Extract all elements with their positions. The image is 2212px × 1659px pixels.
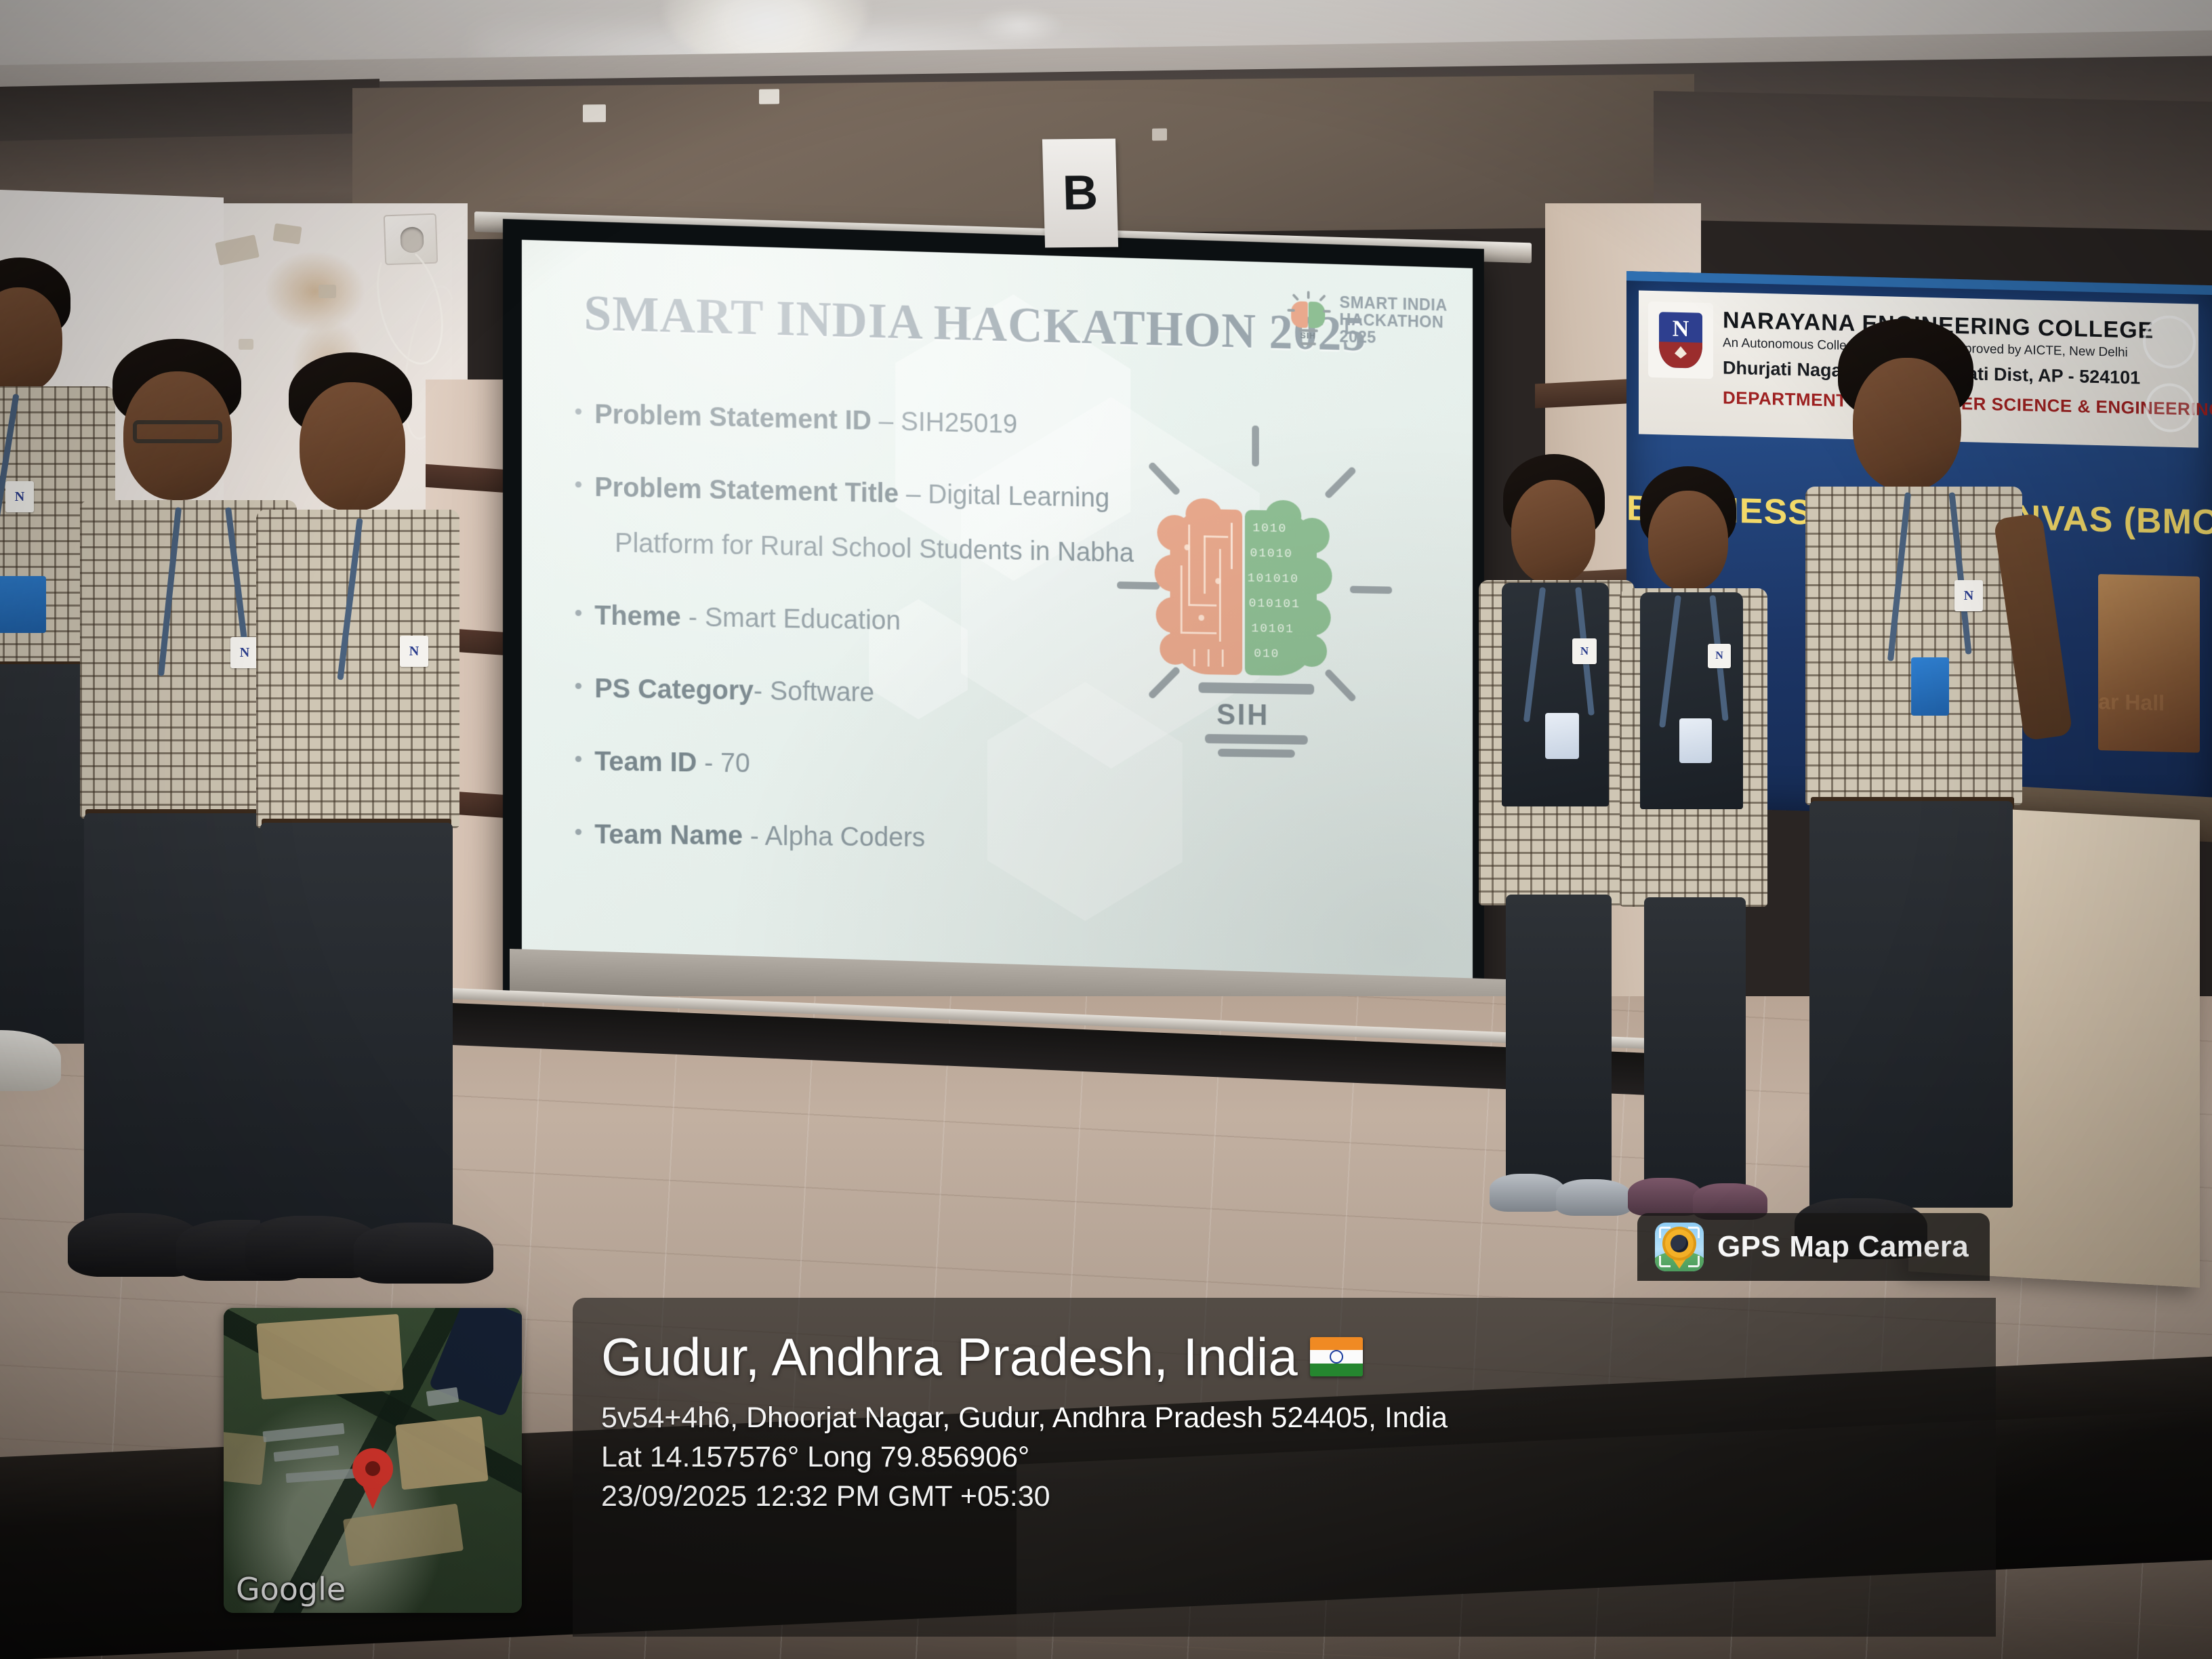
room-letter-sign: B <box>1042 139 1118 248</box>
shield-icon: N <box>1659 312 1702 369</box>
shirt <box>1805 487 2022 805</box>
seal-icon <box>2143 315 2196 369</box>
trousers <box>1506 895 1612 1186</box>
bulb-base <box>1218 749 1295 758</box>
wall-valance-right <box>1654 91 2212 230</box>
gps-city-text: Gudur, Andhra Pradesh, India <box>601 1330 1298 1383</box>
sih-logo-text: SMART INDIA HACKATHON 2025 <box>1340 293 1448 348</box>
college-logo-letter: N <box>1659 316 1702 343</box>
trousers <box>260 823 453 1229</box>
binary-row: 1010 <box>1252 520 1287 535</box>
uniform-badge: N <box>5 481 34 512</box>
binary-row: 101010 <box>1248 571 1299 586</box>
binary-row: 10101 <box>1251 621 1294 636</box>
google-watermark: Google <box>236 1571 346 1607</box>
ceiling-light-secondary <box>976 7 1064 44</box>
map-field <box>395 1416 488 1490</box>
ray <box>1117 581 1160 590</box>
wall-chip <box>319 285 336 298</box>
binary-row: 010 <box>1254 646 1279 661</box>
gps-map-thumbnail[interactable]: Google <box>224 1308 522 1613</box>
sih-brain-icon: SIH <box>1284 290 1332 347</box>
viewfinder-bracket-icon <box>1688 1227 1700 1238</box>
gps-map-camera-icon <box>1655 1223 1704 1271</box>
bulb-base <box>1205 734 1308 745</box>
trousers <box>1809 801 2013 1208</box>
shoe <box>1556 1179 1632 1216</box>
glasses-icon <box>133 420 222 443</box>
bullet-text: Platform for Rural School Students in Na… <box>615 526 1134 570</box>
gps-info-panel: Gudur, Andhra Pradesh, India 5v54+4h6, D… <box>573 1298 1996 1637</box>
uniform-badge: N <box>1572 638 1597 664</box>
id-card <box>1545 713 1579 759</box>
sih-logo-mark: SIH <box>1284 330 1332 342</box>
sih-logo: SIH SMART INDIA HACKATHON 2025 <box>1284 290 1447 350</box>
photo-canvas: N NARAYANA ENGINEERING COLLEGE An Autono… <box>0 0 2212 1659</box>
binary-row: 010101 <box>1249 596 1300 611</box>
wall-valance-left <box>0 79 380 141</box>
wall-chip <box>239 339 253 350</box>
location-pin-icon <box>352 1448 393 1489</box>
id-card <box>0 576 46 633</box>
bulb-base <box>1198 682 1314 695</box>
viewfinder-bracket-icon <box>1688 1256 1700 1267</box>
gps-coordinates: Lat 14.157576° Long 79.856906° <box>601 1437 1969 1477</box>
gps-timestamp: 23/09/2025 12:32 PM GMT +05:30 <box>601 1477 1969 1516</box>
gps-app-badge: GPS Map Camera <box>1637 1213 1990 1281</box>
bullet-text: Problem Statement Title – Digital Learni… <box>594 470 1109 515</box>
bullet-item: • Team Name - Alpha Coders <box>575 817 1240 857</box>
flame-icon <box>1659 342 1702 369</box>
trousers <box>84 813 287 1227</box>
banner-top-border <box>1626 271 2212 295</box>
shoe <box>1628 1178 1702 1216</box>
brain-right-hemisphere: 1010 01010 101010 010101 10101 010 <box>1245 510 1317 676</box>
bullet-dot: • <box>575 744 583 770</box>
bullet-dot: • <box>575 598 583 624</box>
bullet-text: PS Category- Software <box>594 672 874 710</box>
head <box>1853 358 1961 491</box>
presentation-slide: SMART INDIA HACKATHON 2025 SIH SMART IN <box>522 240 1473 1006</box>
bullet-text: Theme - Smart Education <box>594 598 901 637</box>
trousers <box>1644 897 1746 1189</box>
bullet-dot: • <box>575 817 583 843</box>
ashoka-chakra-icon <box>1330 1350 1343 1364</box>
wall-stain <box>264 251 366 332</box>
gps-app-name: GPS Map Camera <box>1717 1230 1969 1264</box>
shoe <box>1490 1174 1565 1212</box>
vest <box>1640 592 1743 809</box>
ray <box>1147 462 1181 496</box>
bullet-dot: • <box>575 470 583 495</box>
room-letter: B <box>1062 165 1099 221</box>
ray <box>1252 426 1258 467</box>
id-card <box>1679 718 1712 763</box>
projector-screen: SMART INDIA HACKATHON 2025 SIH SMART IN <box>503 219 1484 1023</box>
ray <box>1350 586 1392 594</box>
map-field <box>256 1314 403 1399</box>
college-logo: N <box>1648 302 1713 379</box>
india-flag-icon <box>1310 1337 1363 1376</box>
brain-left-hemisphere <box>1170 508 1243 675</box>
ray <box>1324 466 1357 499</box>
ray <box>1147 665 1181 699</box>
id-card <box>1911 657 1949 716</box>
head <box>1648 491 1728 591</box>
bullet-dot: • <box>575 397 583 423</box>
slide-title: SMART INDIA HACKATHON 2025 <box>583 285 1366 363</box>
head <box>300 382 405 511</box>
binary-row: 01010 <box>1250 546 1293 561</box>
uniform-badge: N <box>400 636 428 667</box>
uniform-badge: N <box>1708 644 1731 668</box>
viewfinder-bracket-icon <box>1659 1256 1671 1267</box>
viewfinder-bracket-icon <box>1659 1227 1671 1238</box>
banner-photo <box>2098 574 2200 753</box>
sih-brain-graphic: 1010 01010 101010 010101 10101 010 SIH <box>1121 410 1391 785</box>
shoe <box>354 1223 493 1284</box>
wall-chip <box>272 223 302 244</box>
nba-seal-icon <box>2146 383 2194 433</box>
gps-address: 5v54+4h6, Dhoorjat Nagar, Gudur, Andhra … <box>601 1398 1969 1437</box>
ray <box>1324 668 1357 703</box>
map-field <box>224 1432 267 1486</box>
gps-city-line: Gudur, Andhra Pradesh, India <box>601 1330 1969 1383</box>
vest <box>1502 583 1609 806</box>
uniform-badge: N <box>1954 580 1983 611</box>
bullet-dot: • <box>575 672 583 697</box>
head <box>1511 480 1595 584</box>
bullet-text: Team Name - Alpha Coders <box>594 817 925 854</box>
bullet-text: Team ID - 70 <box>594 745 750 781</box>
sih-graphic-mark: SIH <box>1216 699 1269 733</box>
uniform-badge: N <box>230 637 259 668</box>
